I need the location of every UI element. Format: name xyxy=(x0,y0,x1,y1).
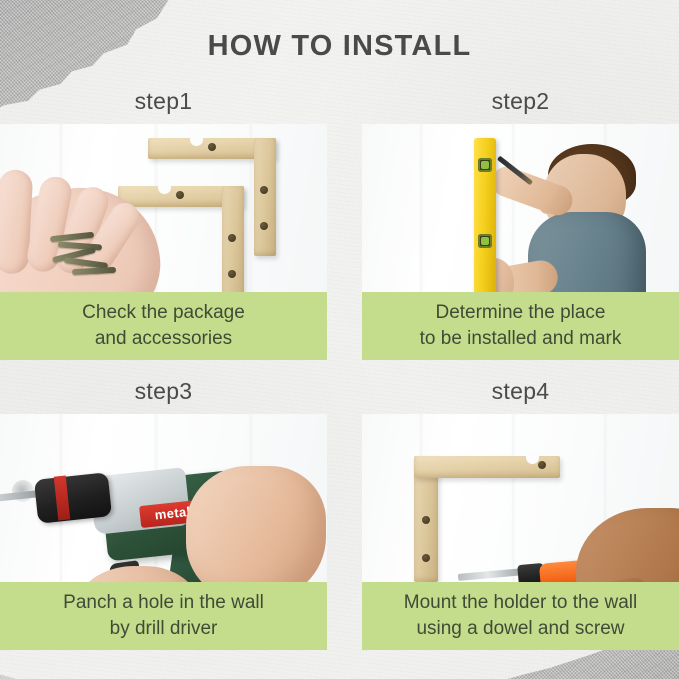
step-photo-2: Determine the place to be installed and … xyxy=(362,124,679,360)
step-caption-3: Panch a hole in the wall by drill driver xyxy=(0,582,327,650)
torn-paper-bottom-left xyxy=(0,657,80,679)
caption-line: by drill driver xyxy=(6,616,321,642)
drill-chuck xyxy=(34,472,112,523)
step-caption-1: Check the package and accessories xyxy=(0,292,327,360)
caption-line: and accessories xyxy=(6,326,321,352)
step-label-1: step1 xyxy=(0,88,327,115)
step-card-1: step1 xyxy=(0,88,327,360)
caption-line: to be installed and mark xyxy=(368,326,673,352)
caption-line: using a dowel and screw xyxy=(368,616,673,642)
screws-icon xyxy=(50,232,160,278)
step-photo-1: Check the package and accessories xyxy=(0,124,327,360)
step-card-2: step2 Determine the place to be installe… xyxy=(362,88,679,360)
infographic-canvas: HOW TO INSTALL step1 xyxy=(0,0,679,679)
step-caption-2: Determine the place to be installed and … xyxy=(362,292,679,360)
caption-line: Check the package xyxy=(6,300,321,326)
step-photo-3: metabo Panch a hole in the wall by drill… xyxy=(0,414,327,650)
step-photo-4: Mount the holder to the wall using a dow… xyxy=(362,414,679,650)
caption-line: Determine the place xyxy=(368,300,673,326)
step-label-4: step4 xyxy=(362,378,679,405)
caption-line: Panch a hole in the wall xyxy=(6,590,321,616)
page-title: HOW TO INSTALL xyxy=(0,30,679,63)
step-card-3: step3 metabo Panch a hole in the wall by… xyxy=(0,378,327,650)
step-label-2: step2 xyxy=(362,88,679,115)
caption-line: Mount the holder to the wall xyxy=(368,590,673,616)
step-label-3: step3 xyxy=(0,378,327,405)
step-caption-4: Mount the holder to the wall using a dow… xyxy=(362,582,679,650)
step-card-4: step4 Mount the holder to the wall using xyxy=(362,378,679,650)
